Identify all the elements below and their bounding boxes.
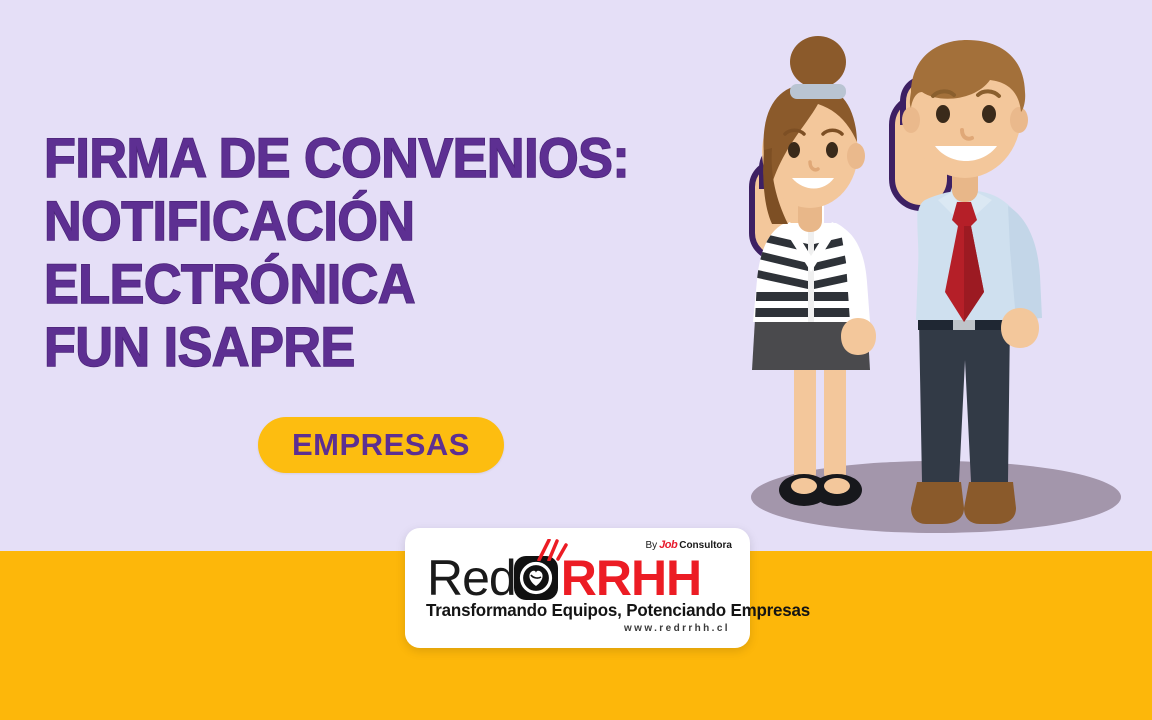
- empresas-badge[interactable]: EMPRESAS: [258, 417, 504, 473]
- wordmark-red-text: Red: [427, 553, 516, 603]
- speed-lines-icon: [536, 539, 570, 561]
- woman-eye-left: [788, 142, 800, 158]
- woman-placket: [808, 226, 814, 322]
- empresas-badge-label: EMPRESAS: [292, 427, 470, 463]
- brand-logo-card: By Job Consultora Red RRHH T: [405, 528, 750, 648]
- brand-website[interactable]: www.redrrhh.cl: [624, 623, 730, 634]
- headline-line-1: FIRMA DE CONVENIOS:: [44, 126, 639, 189]
- man-shoe-right: [964, 482, 1016, 524]
- byline-suffix: Consultora: [679, 540, 732, 551]
- man-eye-left: [936, 105, 950, 123]
- characters-illustration: [690, 30, 1152, 560]
- red-o-badge-icon: [514, 556, 558, 600]
- promo-banner: FIRMA DE CONVENIOS: NOTIFICACIÓN ELECTRÓ…: [0, 0, 1152, 720]
- headline-line-4: FUN ISAPRE: [44, 315, 639, 378]
- man-shoe-left: [911, 482, 964, 524]
- wordmark-rrhh-text: RRHH: [561, 553, 701, 603]
- headline-line-2: NOTIFICACIÓN: [44, 189, 639, 252]
- woman-hair-bun: [790, 36, 846, 88]
- woman-eye-right: [826, 142, 838, 158]
- man-trousers: [919, 320, 1010, 482]
- wordmark: Red RRHH: [427, 552, 701, 604]
- woman-right-hand: [841, 318, 876, 355]
- man-right-hand: [1001, 308, 1039, 348]
- woman-leg-right: [824, 360, 846, 482]
- brand-tagline: Transformando Equipos, Potenciando Empre…: [426, 600, 810, 621]
- man-ear-left: [902, 107, 920, 133]
- woman-hair-tie: [790, 84, 846, 99]
- headline-line-3: ELECTRÓNICA: [44, 252, 639, 315]
- byline-prefix: By: [645, 540, 657, 551]
- woman-ear-right: [847, 143, 865, 169]
- man-eye-right: [982, 105, 996, 123]
- headline-block: FIRMA DE CONVENIOS: NOTIFICACIÓN ELECTRÓ…: [44, 126, 684, 378]
- man-ear-right: [1010, 107, 1028, 133]
- woman-leg-left: [794, 360, 816, 482]
